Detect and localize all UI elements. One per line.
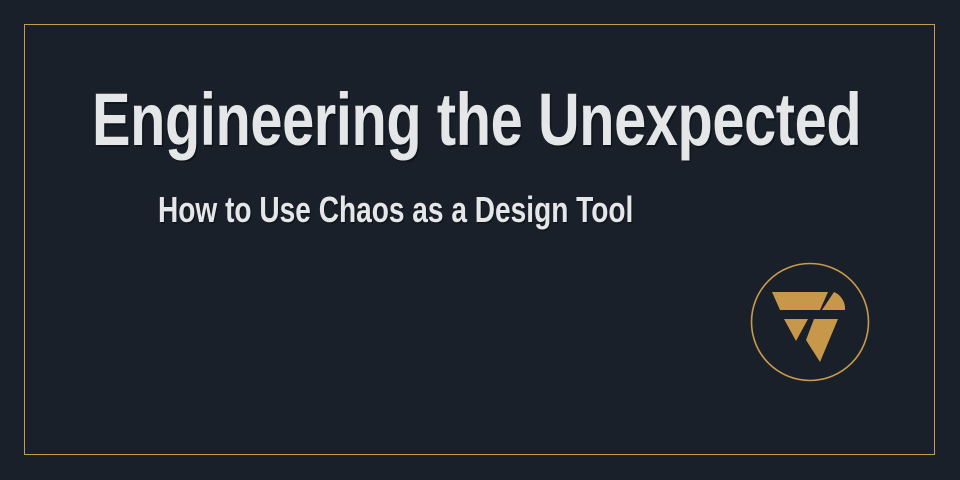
presentation-title-slide: Engineering the Unexpected How to Use Ch…	[0, 0, 960, 480]
slide-title: Engineering the Unexpected	[92, 80, 861, 160]
logo-descender-stroke-shape	[806, 319, 838, 362]
logo-curved-wedge-shape	[834, 292, 845, 310]
brand-logo-badge	[750, 262, 870, 382]
brand-v-monogram-logo	[750, 262, 870, 382]
logo-circle-outline	[752, 264, 869, 381]
slide-subtitle: How to Use Chaos as a Design Tool	[158, 190, 633, 230]
logo-top-bar-shape	[772, 292, 828, 310]
logo-left-triangle-shape	[784, 319, 808, 341]
